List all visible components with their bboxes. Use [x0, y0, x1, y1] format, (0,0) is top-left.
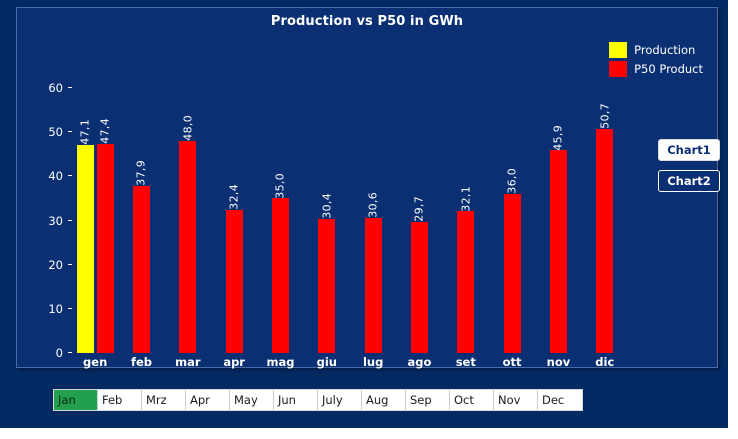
legend-swatch-p50: [609, 61, 627, 77]
bar-value-label: 37,9: [135, 160, 148, 186]
month-cell-dec[interactable]: Dec: [538, 390, 582, 410]
bar-p50-product-giu[interactable]: [318, 219, 335, 353]
bar-wrapper: 47,1: [77, 145, 94, 353]
month-cell-july[interactable]: July: [318, 390, 362, 410]
x-axis-label-set: set: [443, 353, 489, 371]
bar-value-label: 29,7: [413, 196, 426, 222]
bar-group: 30,4: [304, 88, 350, 353]
bar-wrapper: 30,6: [365, 218, 382, 353]
x-axis-label-apr: apr: [211, 353, 257, 371]
bar-value-label: 30,6: [367, 192, 380, 218]
legend-swatch-production: [609, 42, 627, 58]
y-axis-tick: 40: [48, 170, 72, 182]
bar-value-label: 32,1: [459, 186, 472, 212]
bar-group: 30,6: [350, 88, 396, 353]
bar-wrapper: 36,0: [504, 194, 521, 353]
x-axis-label-mag: mag: [257, 353, 303, 371]
month-cell-aug[interactable]: Aug: [362, 390, 406, 410]
y-axis-tick: 0: [56, 347, 72, 359]
legend-item: Production: [609, 41, 703, 58]
month-cell-jun[interactable]: Jun: [274, 390, 318, 410]
bar-group: 50,7: [582, 88, 628, 353]
y-axis-tick-label: 20: [48, 259, 63, 271]
bar-group: 37,9: [118, 88, 164, 353]
month-selector-strip[interactable]: JanFebMrzAprMayJunJulyAugSepOctNovDec: [53, 389, 583, 411]
chart-legend: ProductionP50 Product: [609, 41, 703, 77]
bar-p50-product-dic[interactable]: [596, 129, 613, 353]
month-cell-nov[interactable]: Nov: [494, 390, 538, 410]
bar-value-label: 30,4: [320, 193, 333, 219]
month-cell-may[interactable]: May: [230, 390, 274, 410]
bar-p50-product-lug[interactable]: [365, 218, 382, 353]
bar-groups: 47,147,437,948,032,435,030,430,629,732,1…: [72, 88, 628, 353]
y-axis-tick-label: 40: [48, 170, 63, 182]
x-axis-label-nov: nov: [535, 353, 581, 371]
bar-p50-product-nov[interactable]: [550, 150, 567, 353]
bar-wrapper: 29,7: [411, 222, 428, 353]
bar-value-label: 47,1: [79, 119, 92, 145]
bar-wrapper: 37,9: [133, 186, 150, 353]
bar-group: 29,7: [396, 88, 442, 353]
bar-wrapper: 32,1: [457, 211, 474, 353]
bar-wrapper: 32,4: [226, 210, 243, 353]
y-axis-tick: 10: [48, 303, 72, 315]
y-axis-tick: 20: [48, 259, 72, 271]
bar-group: 36,0: [489, 88, 535, 353]
bar-value-label: 48,0: [181, 115, 194, 141]
bar-group: 48,0: [165, 88, 211, 353]
bar-group: 47,147,4: [72, 88, 118, 353]
month-cell-apr[interactable]: Apr: [186, 390, 230, 410]
x-axis: genfebmaraprmaggiulugagosetottnovdic: [72, 353, 628, 371]
y-axis-tick-label: 0: [56, 347, 63, 359]
bar-p50-product-mag[interactable]: [272, 198, 289, 353]
y-axis-tick: 30: [48, 215, 72, 227]
bar-group: 45,9: [535, 88, 581, 353]
x-axis-label-ago: ago: [396, 353, 442, 371]
application-panel: Production vs P50 in GWh ProductionP50 P…: [0, 0, 728, 428]
bar-production-gen[interactable]: [77, 145, 94, 353]
chart-frame: Production vs P50 in GWh ProductionP50 P…: [16, 7, 718, 368]
bar-wrapper: 47,4: [97, 144, 114, 353]
bar-value-label: 32,4: [228, 184, 241, 210]
x-axis-label-lug: lug: [350, 353, 396, 371]
bar-group: 32,4: [211, 88, 257, 353]
y-axis-tick-label: 10: [48, 303, 63, 315]
x-axis-label-dic: dic: [582, 353, 628, 371]
month-cell-mrz[interactable]: Mrz: [142, 390, 186, 410]
y-axis-tick: 60: [48, 82, 72, 94]
x-axis-label-giu: giu: [304, 353, 350, 371]
y-axis-tick-label: 60: [48, 82, 63, 94]
y-axis-tick-label: 50: [48, 126, 63, 138]
bar-p50-product-mar[interactable]: [179, 141, 196, 353]
legend-item: P50 Product: [609, 60, 703, 77]
bar-group: 32,1: [443, 88, 489, 353]
bar-wrapper: 30,4: [318, 219, 335, 353]
bar-p50-product-set[interactable]: [457, 211, 474, 353]
legend-label: Production: [634, 43, 695, 57]
chart2-button[interactable]: Chart2: [658, 170, 720, 192]
bar-value-label: 45,9: [552, 125, 565, 151]
chart-switch-buttons: Chart1Chart2: [658, 139, 722, 201]
plot-area: 47,147,437,948,032,435,030,430,629,732,1…: [72, 88, 628, 353]
y-axis-tick-label: 30: [48, 215, 63, 227]
bar-p50-product-feb[interactable]: [133, 186, 150, 353]
bar-p50-product-gen[interactable]: [97, 144, 114, 353]
month-cell-feb[interactable]: Feb: [98, 390, 142, 410]
bar-p50-product-ago[interactable]: [411, 222, 428, 353]
month-cell-oct[interactable]: Oct: [450, 390, 494, 410]
legend-label: P50 Product: [634, 62, 703, 76]
x-axis-label-mar: mar: [165, 353, 211, 371]
month-cell-sep[interactable]: Sep: [406, 390, 450, 410]
x-axis-label-gen: gen: [72, 353, 118, 371]
bar-wrapper: 45,9: [550, 150, 567, 353]
bar-p50-product-apr[interactable]: [226, 210, 243, 353]
bar-value-label: 50,7: [598, 103, 611, 129]
y-axis-tick: 50: [48, 126, 72, 138]
chart-title: Production vs P50 in GWh: [17, 14, 717, 29]
bar-wrapper: 35,0: [272, 198, 289, 353]
bar-group: 35,0: [257, 88, 303, 353]
bar-value-label: 35,0: [274, 173, 287, 199]
bar-p50-product-ott[interactable]: [504, 194, 521, 353]
bar-wrapper: 50,7: [596, 129, 613, 353]
bar-value-label: 36,0: [506, 168, 519, 194]
chart1-button[interactable]: Chart1: [658, 139, 720, 161]
x-axis-label-ott: ott: [489, 353, 535, 371]
y-axis: 0102030405060: [17, 88, 72, 353]
bar-value-label: 47,4: [99, 118, 112, 144]
month-cell-jan[interactable]: Jan: [54, 390, 98, 410]
bar-wrapper: 48,0: [179, 141, 196, 353]
x-axis-label-feb: feb: [118, 353, 164, 371]
